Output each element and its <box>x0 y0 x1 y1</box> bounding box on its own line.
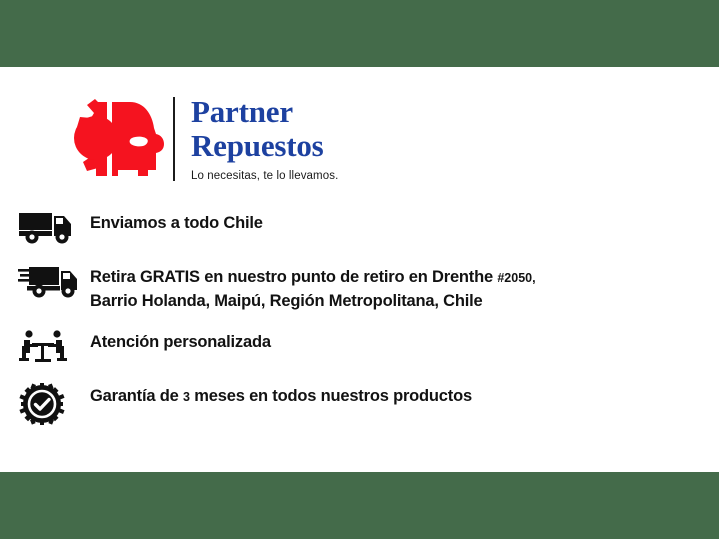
brand-name-line-1: Partner <box>191 96 338 127</box>
brand-text: Partner Repuestos Lo necesitas, te lo ll… <box>191 96 338 182</box>
pickup-text-part-1: Retira GRATIS en nuestro punto de retiro… <box>90 268 497 286</box>
feature-label-warranty: Garantía de 3 meses en todos nuestros pr… <box>90 381 472 409</box>
top-green-band <box>0 0 719 67</box>
feature-item-shipping: Enviamos a todo Chile <box>18 208 708 244</box>
feature-list: Enviamos a todo Chile <box>18 208 708 425</box>
brand-logo: Partner Repuestos Lo necesitas, te lo ll… <box>60 96 338 182</box>
feature-label-pickup: Retira GRATIS en nuestro punto de retiro… <box>90 262 536 313</box>
logo-divider <box>173 97 175 181</box>
warranty-months-number: 3 <box>183 390 190 404</box>
feature-label-service: Atención personalizada <box>90 327 271 354</box>
warranty-text-part-2: meses en todos nuestros productos <box>190 387 472 405</box>
delivery-truck-icon <box>18 208 90 244</box>
feature-item-service: Atención personalizada <box>18 327 708 365</box>
brand-name-line-2: Repuestos <box>191 130 338 161</box>
fast-truck-icon <box>18 262 90 298</box>
gear-car-logo-icon <box>60 98 165 180</box>
bottom-green-band <box>0 472 719 539</box>
pickup-address-number: #2050, <box>497 271 535 285</box>
brand-tagline: Lo necesitas, te lo llevamos. <box>191 170 338 182</box>
pickup-text-part-2: Barrio Holanda, Maipú, Región Metropolit… <box>90 292 482 310</box>
warranty-text-part-1: Garantía de <box>90 387 183 405</box>
people-at-table-icon <box>18 327 90 365</box>
feature-label-shipping: Enviamos a todo Chile <box>90 208 263 235</box>
feature-item-pickup: Retira GRATIS en nuestro punto de retiro… <box>18 262 708 313</box>
feature-item-warranty: Garantía de 3 meses en todos nuestros pr… <box>18 381 708 425</box>
promo-banner: Partner Repuestos Lo necesitas, te lo ll… <box>0 0 719 539</box>
guarantee-badge-icon <box>18 381 90 425</box>
